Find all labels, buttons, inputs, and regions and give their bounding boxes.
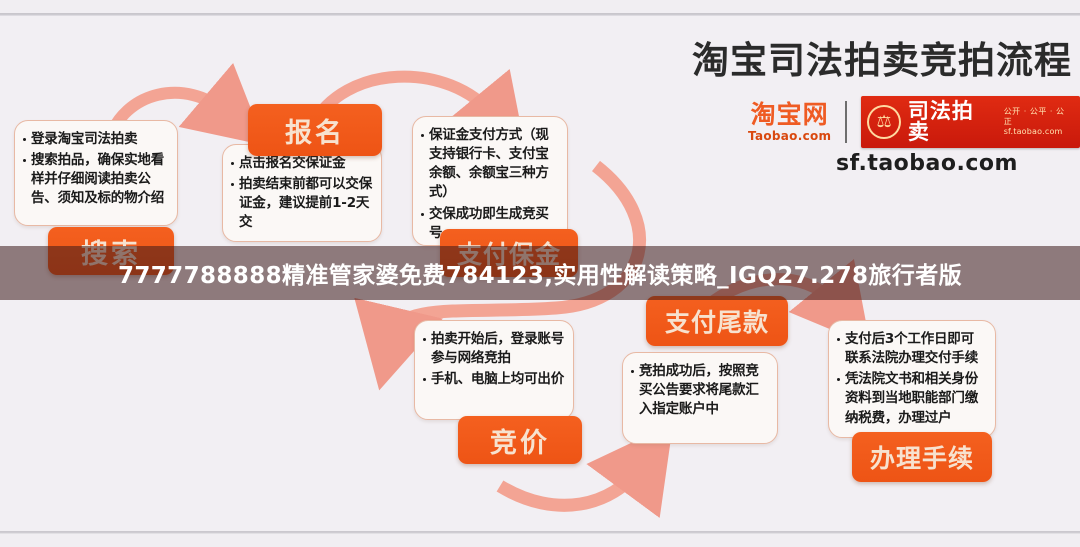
- flowchart-image: 登录淘宝司法拍卖 搜索拍品，确保实地看样并仔细阅读拍卖公告、须知及标的物介绍 点…: [0, 0, 1080, 547]
- step-bullet: 拍卖开始后，登录账号参与网络竞拍: [422, 330, 565, 368]
- step-label-pay-balance[interactable]: 支付尾款: [646, 296, 788, 346]
- step-card-pay-deposit: 保证金支付方式（现支持银行卡、支付宝余额、余额宝三种方式） 交保成功即生成竞买号: [412, 116, 568, 246]
- watermark-overlay-band: 7777788888精准管家婆免费784123,实用性解读策略_IGQ27.27…: [0, 246, 1080, 300]
- step-bullet: 拍卖结束前都可以交保证金，建议提前1-2天交: [230, 175, 373, 232]
- site-url: sf.taobao.com: [836, 151, 1018, 176]
- step-bullet: 点击报名交保证金: [230, 154, 373, 173]
- step-card-formalities: 支付后3个工作日即可联系法院办理交付手续 凭法院文书和相关身份资料到当地职能部门…: [828, 320, 996, 438]
- badge-tagline: 公开 · 公平 · 公正: [1004, 107, 1072, 127]
- page-title: 淘宝司法拍卖竞拍流程: [692, 30, 1072, 84]
- step-label-formalities[interactable]: 办理手续: [852, 432, 992, 482]
- step-card-search: 登录淘宝司法拍卖 搜索拍品，确保实地看样并仔细阅读拍卖公告、须知及标的物介绍: [14, 120, 178, 226]
- taobao-logo-cn: 淘宝网: [751, 102, 829, 127]
- step-bullet: 保证金支付方式（现支持银行卡、支付宝余额、余额宝三种方式）: [420, 126, 559, 203]
- step-card-bidding: 拍卖开始后，登录账号参与网络竞拍 手机、电脑上均可出价: [414, 320, 574, 420]
- step-label-signup[interactable]: 报名: [248, 104, 382, 156]
- step-bullet: 竞拍成功后，按照竞买公告要求将尾款汇入指定账户中: [630, 362, 769, 419]
- step-card-signup: 点击报名交保证金 拍卖结束前都可以交保证金，建议提前1-2天交: [222, 144, 382, 242]
- bottom-divider: [0, 531, 1080, 534]
- judicial-auction-badge: ⚖ 司法拍卖 公开 · 公平 · 公正 sf.taobao.com: [861, 96, 1080, 148]
- step-bullet: 手机、电脑上均可出价: [422, 370, 565, 389]
- badge-url: sf.taobao.com: [1004, 127, 1072, 137]
- step-bullet: 搜索拍品，确保实地看样并仔细阅读拍卖公告、须知及标的物介绍: [22, 151, 169, 208]
- step-card-pay-balance: 竞拍成功后，按照竞买公告要求将尾款汇入指定账户中: [622, 352, 778, 444]
- badge-title: 司法拍卖: [908, 101, 995, 143]
- step-bullet: 支付后3个工作日即可联系法院办理交付手续: [836, 330, 987, 368]
- court-emblem-icon: ⚖: [867, 105, 901, 139]
- badge-subtitle: 公开 · 公平 · 公正 sf.taobao.com: [1004, 107, 1072, 137]
- taobao-logo-en: Taobao.com: [748, 130, 831, 142]
- step-bullet: 凭法院文书和相关身份资料到当地职能部门缴纳税费，办理过户: [836, 370, 987, 427]
- logo-divider: [845, 101, 847, 143]
- taobao-logo: 淘宝网 Taobao.com: [748, 102, 831, 142]
- step-label-bidding[interactable]: 竞价: [458, 416, 582, 464]
- step-bullet: 登录淘宝司法拍卖: [22, 130, 169, 149]
- watermark-text: 7777788888精准管家婆免费784123,实用性解读策略_IGQ27.27…: [118, 256, 962, 290]
- brand-logos: 淘宝网 Taobao.com ⚖ 司法拍卖 公开 · 公平 · 公正 sf.ta…: [748, 96, 1080, 148]
